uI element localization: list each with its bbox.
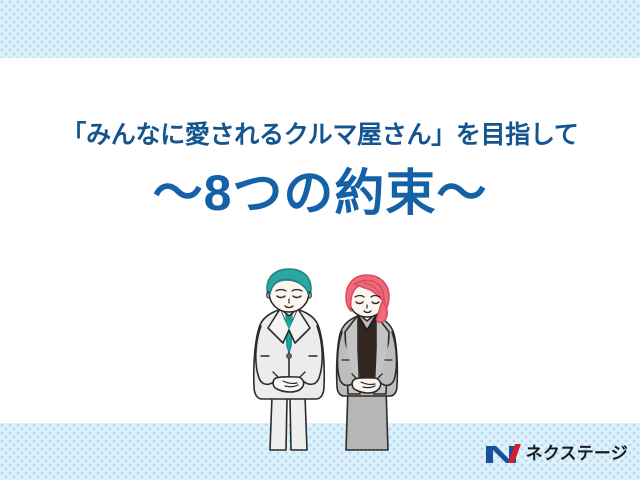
male-staff-figure xyxy=(254,269,325,450)
headline-block: 「みんなに愛されるクルマ屋さん」を目指して 〜8つの約束〜 xyxy=(0,118,640,222)
headline-subtitle: 「みんなに愛されるクルマ屋さん」を目指して xyxy=(0,118,640,152)
staff-illustration-svg xyxy=(228,268,418,453)
brand-logo: ネクステージ xyxy=(485,442,628,466)
staff-illustration xyxy=(228,268,418,453)
headline-title: 〜8つの約束〜 xyxy=(0,164,640,222)
top-dotted-band xyxy=(0,0,640,58)
nextage-n-mark-icon xyxy=(485,442,521,466)
female-staff-figure xyxy=(337,275,398,450)
poster-canvas: 「みんなに愛されるクルマ屋さん」を目指して 〜8つの約束〜 xyxy=(0,0,640,480)
brand-name-text: ネクステージ xyxy=(526,442,628,466)
